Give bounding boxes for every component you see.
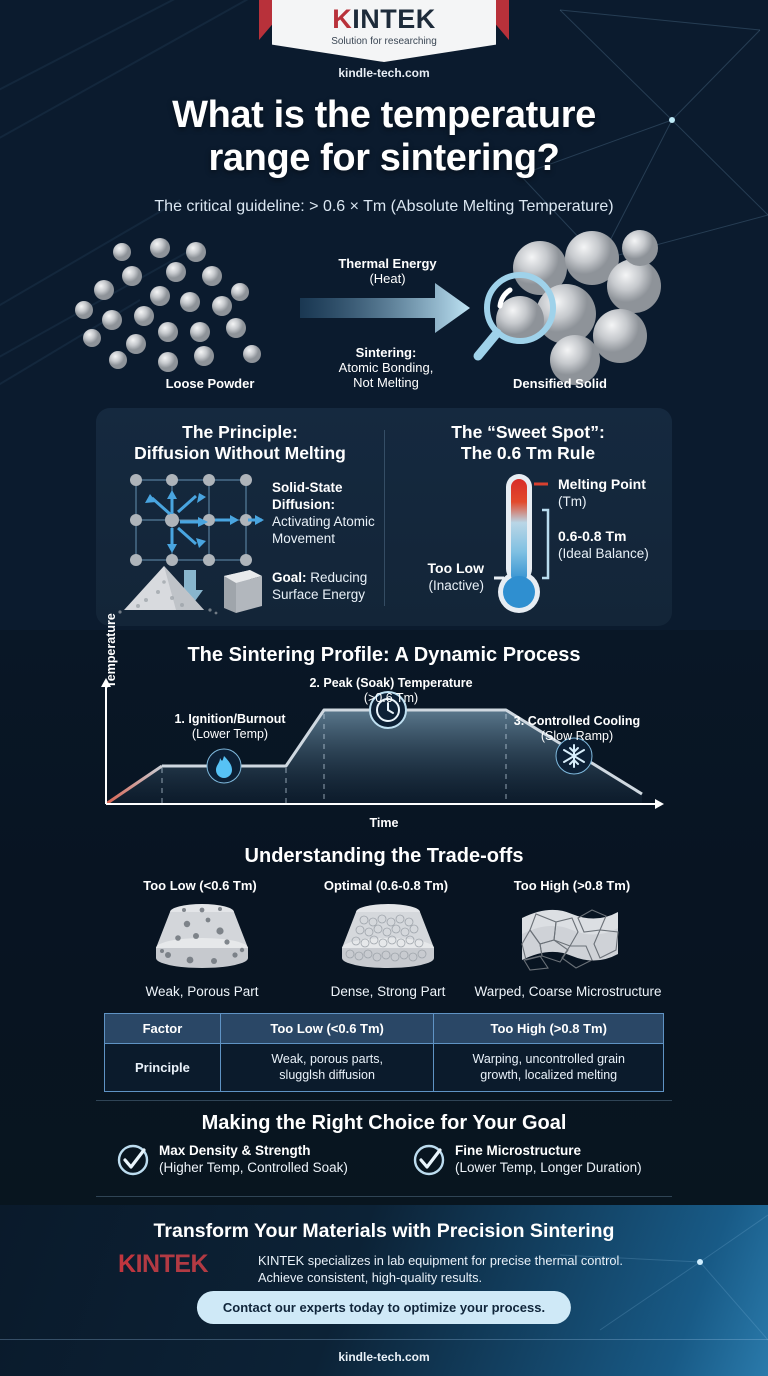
cta-body-line2: Achieve consistent, high-quality results… <box>258 1270 482 1285</box>
choice-item-1: Fine Microstructure (Lower Temp, Longer … <box>412 1143 642 1177</box>
table-header-too-high: Too High (>0.8 Tm) <box>434 1014 664 1044</box>
tradeoff-foot-2: Warped, Coarse Microstructure <box>466 984 670 999</box>
porous-part-icon <box>132 898 272 976</box>
page-title-line-1: What is the temperature <box>172 94 596 136</box>
tradeoff-head-2: Too High (>0.8 Tm) <box>478 878 666 893</box>
sweetspot-title-line1: The “Sweet Spot”: <box>451 422 605 442</box>
page-subtitle: The critical guideline: > 0.6 × Tm (Abso… <box>0 198 768 216</box>
cta-logo-letters-intek: INTEK <box>136 1250 209 1278</box>
solid-cube-icon <box>224 570 262 613</box>
thermal-energy-title: Thermal Energy <box>338 256 436 271</box>
choice-item-0-text: Max Density & Strength (Higher Temp, Con… <box>159 1143 348 1176</box>
powder-pile-and-cube-icon <box>116 558 266 616</box>
tradeoffs-title: Understanding the Trade-offs <box>0 845 768 868</box>
solid-state-diffusion-text: Solid-State Diffusion: Activating Atomic… <box>272 480 384 548</box>
contact-experts-button[interactable]: Contact our experts today to optimize yo… <box>197 1291 571 1324</box>
thermometer-icon <box>486 470 556 618</box>
divider-above-choice <box>96 1100 672 1101</box>
logo-letters-intek: INTEK <box>352 4 436 34</box>
goal-label-bold: Goal: <box>272 570 307 585</box>
choice-item-0-bold: Max Density & Strength <box>159 1143 348 1160</box>
logo-wordmark: KINTEK <box>332 6 436 33</box>
ideal-range-bold: 0.6-0.8 Tm <box>558 528 626 544</box>
ideal-range-text: 0.6-0.8 Tm (Ideal Balance) <box>558 528 674 563</box>
chart-stage-3-title: 3. Controlled Cooling <box>514 714 640 728</box>
page-title-line-2: range for sintering? <box>209 137 560 179</box>
table-header-factor: Factor <box>105 1014 221 1044</box>
choice-item-1-bold: Fine Microstructure <box>455 1143 642 1160</box>
too-low-sub: (Inactive) <box>428 578 484 593</box>
chart-stage-2-title: 2. Peak (Soak) Temperature <box>309 676 472 690</box>
table-cell-too-low: Weak, porous parts, slugglsh diffusion <box>220 1044 434 1092</box>
sintering-note-label: Sintering: Atomic Bonding, Not Melting <box>296 345 476 390</box>
densified-solid-caption: Densified Solid <box>470 376 650 391</box>
goal-text: Goal: Reducing Surface Energy <box>272 570 382 604</box>
melting-point-bold: Melting Point <box>558 476 646 492</box>
sweetspot-title-line2: The 0.6 Tm Rule <box>461 443 595 463</box>
table-cell-factor: Principle <box>105 1044 221 1092</box>
diffusion-label-line2: Movement <box>272 531 335 546</box>
choice-item-0-sub: (Higher Temp, Controlled Soak) <box>159 1160 348 1175</box>
logo-letter-k: K <box>332 4 352 34</box>
site-url-bottom: kindle-tech.com <box>0 1350 768 1364</box>
ideal-range-sub: (Ideal Balance) <box>558 546 649 561</box>
dense-part-icon <box>318 898 458 976</box>
thermal-energy-sub: (Heat) <box>300 271 475 286</box>
logo-tagline: Solution for researching <box>331 36 437 47</box>
table-cell-too-low-l2: slugglsh diffusion <box>279 1068 375 1082</box>
table-row: Principle Weak, porous parts, slugglsh d… <box>105 1044 664 1092</box>
comparison-table: Factor Too Low (<0.6 Tm) Too High (>0.8 … <box>104 1013 664 1092</box>
table-cell-too-low-l1: Weak, porous parts, <box>271 1052 383 1066</box>
flame-icon <box>207 749 241 783</box>
choice-item-1-sub: (Lower Temp, Longer Duration) <box>455 1160 642 1175</box>
principle-panel-title: The Principle: Diffusion Without Melting <box>96 422 384 464</box>
table-cell-too-high-l2: growth, localized melting <box>480 1068 617 1082</box>
choice-title: Making the Right Choice for Your Goal <box>0 1112 768 1135</box>
table-cell-too-high: Warping, uncontrolled grain growth, loca… <box>434 1044 664 1092</box>
goal-label-line2: Surface Energy <box>272 587 365 602</box>
cta-body-line1: KINTEK specializes in lab equipment for … <box>258 1253 623 1268</box>
diffusion-label-bold: Solid-State Diffusion: <box>272 480 343 512</box>
principle-title-line1: The Principle: <box>182 422 298 442</box>
cta-kintek-logo: KINTEK <box>118 1250 208 1279</box>
goal-label-rest: Reducing <box>307 570 368 585</box>
chart-stage-3-label: 3. Controlled Cooling (Slow Ramp) <box>494 714 660 744</box>
cta-body: KINTEK specializes in lab equipment for … <box>258 1252 658 1287</box>
cta-title: Transform Your Materials with Precision … <box>0 1220 768 1243</box>
sweetspot-panel-title: The “Sweet Spot”: The 0.6 Tm Rule <box>384 422 672 464</box>
tradeoff-head-0: Too Low (<0.6 Tm) <box>108 878 292 893</box>
page-title: What is the temperature range for sinter… <box>0 94 768 181</box>
infographic-page: KINTEK Solution for researching kindle-t… <box>0 0 768 1376</box>
warped-part-icon <box>500 898 640 976</box>
chart-stage-2-label: 2. Peak (Soak) Temperature (>0.6 Tm) <box>284 676 498 706</box>
site-url-top: kindle-tech.com <box>0 66 768 80</box>
check-circle-icon <box>412 1143 446 1177</box>
loose-powder-cluster <box>75 238 261 372</box>
table-header-too-low: Too Low (<0.6 Tm) <box>220 1014 434 1044</box>
choice-item-0: Max Density & Strength (Higher Temp, Con… <box>116 1143 348 1177</box>
chart-stage-3-sub: (Slow Ramp) <box>494 729 660 744</box>
principle-sweetspot-panel: The Principle: Diffusion Without Melting… <box>96 408 672 626</box>
melting-point-text: Melting Point (Tm) <box>558 476 670 511</box>
sintering-note-title: Sintering: <box>356 345 417 360</box>
chart-stage-1-title: 1. Ignition/Burnout <box>174 712 285 726</box>
choice-item-1-text: Fine Microstructure (Lower Temp, Longer … <box>455 1143 642 1176</box>
loose-powder-caption: Loose Powder <box>120 376 300 391</box>
thermal-energy-label: Thermal Energy (Heat) <box>300 256 475 286</box>
diffusion-label-line1: Activating Atomic <box>272 514 375 529</box>
too-low-text: Too Low (Inactive) <box>392 560 484 595</box>
tradeoff-head-1: Optimal (0.6-0.8 Tm) <box>292 878 480 893</box>
chart-stage-2-sub: (>0.6 Tm) <box>284 691 498 706</box>
melting-point-sub: (Tm) <box>558 494 586 509</box>
tradeoff-foot-0: Weak, Porous Part <box>104 984 300 999</box>
tradeoff-foot-1: Dense, Strong Part <box>288 984 488 999</box>
chart-x-axis-label: Time <box>0 816 768 830</box>
sintering-note-line1: Atomic Bonding, <box>296 360 476 375</box>
chart-stage-1-sub: (Lower Temp) <box>140 727 320 742</box>
sintering-note-line2: Not Melting <box>296 375 476 390</box>
too-low-bold: Too Low <box>428 560 485 576</box>
chart-stage-1-label: 1. Ignition/Burnout (Lower Temp) <box>140 712 320 742</box>
footer-divider <box>0 1339 768 1340</box>
thermal-energy-arrow <box>300 283 470 333</box>
table-cell-too-high-l1: Warping, uncontrolled grain <box>473 1052 625 1066</box>
table-header-row: Factor Too Low (<0.6 Tm) Too High (>0.8 … <box>105 1014 664 1044</box>
principle-title-line2: Diffusion Without Melting <box>134 443 346 463</box>
divider-below-choice <box>96 1196 672 1197</box>
densified-solid-cluster <box>496 230 661 385</box>
check-circle-icon <box>116 1143 150 1177</box>
cta-logo-letter-k: K <box>118 1250 136 1278</box>
